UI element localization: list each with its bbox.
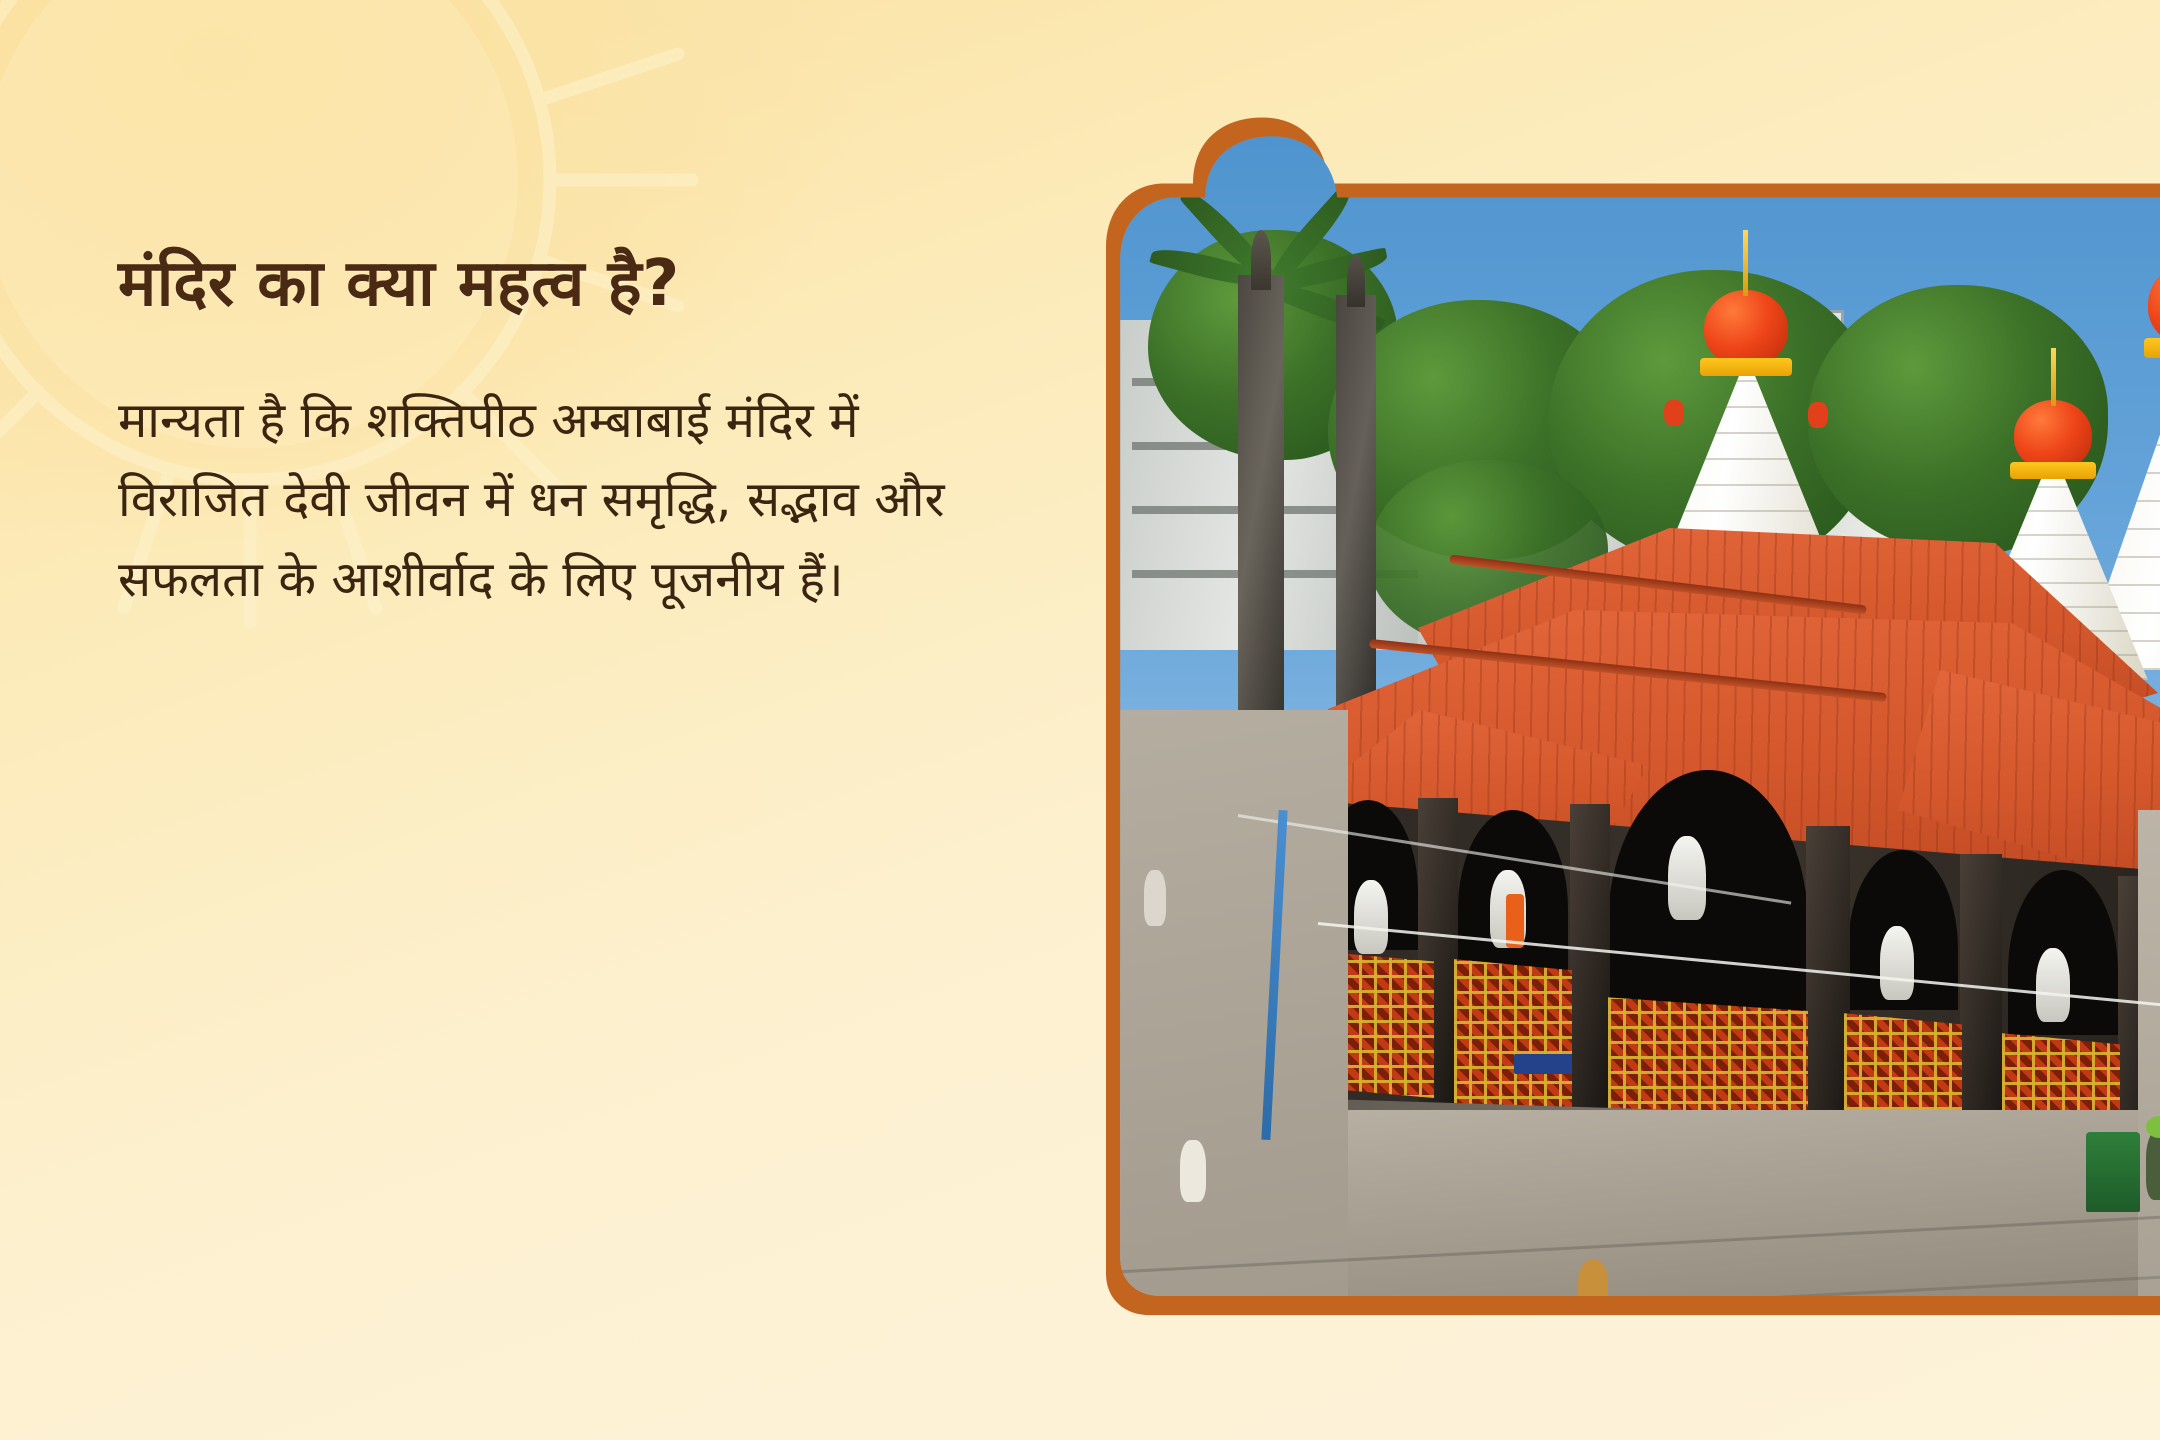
shikhara-3-dome <box>2014 400 2092 470</box>
shikhara-1-finial <box>1743 230 1748 296</box>
text-column: मंदिर का क्या महत्व है? मान्यता है कि शक… <box>118 250 1018 619</box>
stone-tower-finial <box>1251 230 1271 290</box>
shikhara-3-dome-band <box>2010 462 2096 479</box>
statue-figure <box>2036 948 2070 1022</box>
shikhara-2-dome-band <box>2144 338 2160 358</box>
courtyard-ground-left <box>1118 710 1348 1308</box>
statue-figure <box>1354 880 1388 954</box>
visitor-figure <box>2146 1130 2160 1200</box>
waste-bin <box>2086 1132 2140 1212</box>
photo-image-area <box>1118 110 2160 1308</box>
statue-figure <box>1880 926 1914 1000</box>
shikhara-1-red-knob <box>1664 400 1684 426</box>
shikhara-1-dome <box>1704 290 1788 366</box>
stone-tower-2 <box>1336 295 1376 735</box>
signboard <box>1514 1054 1572 1074</box>
stone-tower-2-finial <box>1347 255 1365 307</box>
page-title: मंदिर का क्या महत्व है? <box>118 250 1018 319</box>
visitor-figure <box>1180 1140 1206 1202</box>
courtyard-ground-right <box>2138 810 2160 1308</box>
shikhara-1-red-knob <box>1808 402 1828 428</box>
stone-tower <box>1238 275 1284 745</box>
body-paragraph: मान्यता है कि शक्तिपीठ अम्बाबाई मंदिर मे… <box>118 381 978 619</box>
statue-figure <box>1668 836 1706 920</box>
visitor-figure <box>1144 870 1166 926</box>
flower-grille <box>1454 956 1572 1114</box>
temple-photo <box>1106 98 2160 1320</box>
temple-pillar <box>1570 804 1610 1140</box>
shikhara-1-dome-band <box>1700 358 1792 376</box>
slide-canvas: मंदिर का क्या महत्व है? मान्यता है कि शक… <box>0 0 2160 1440</box>
shikhara-3-finial <box>2051 348 2056 406</box>
